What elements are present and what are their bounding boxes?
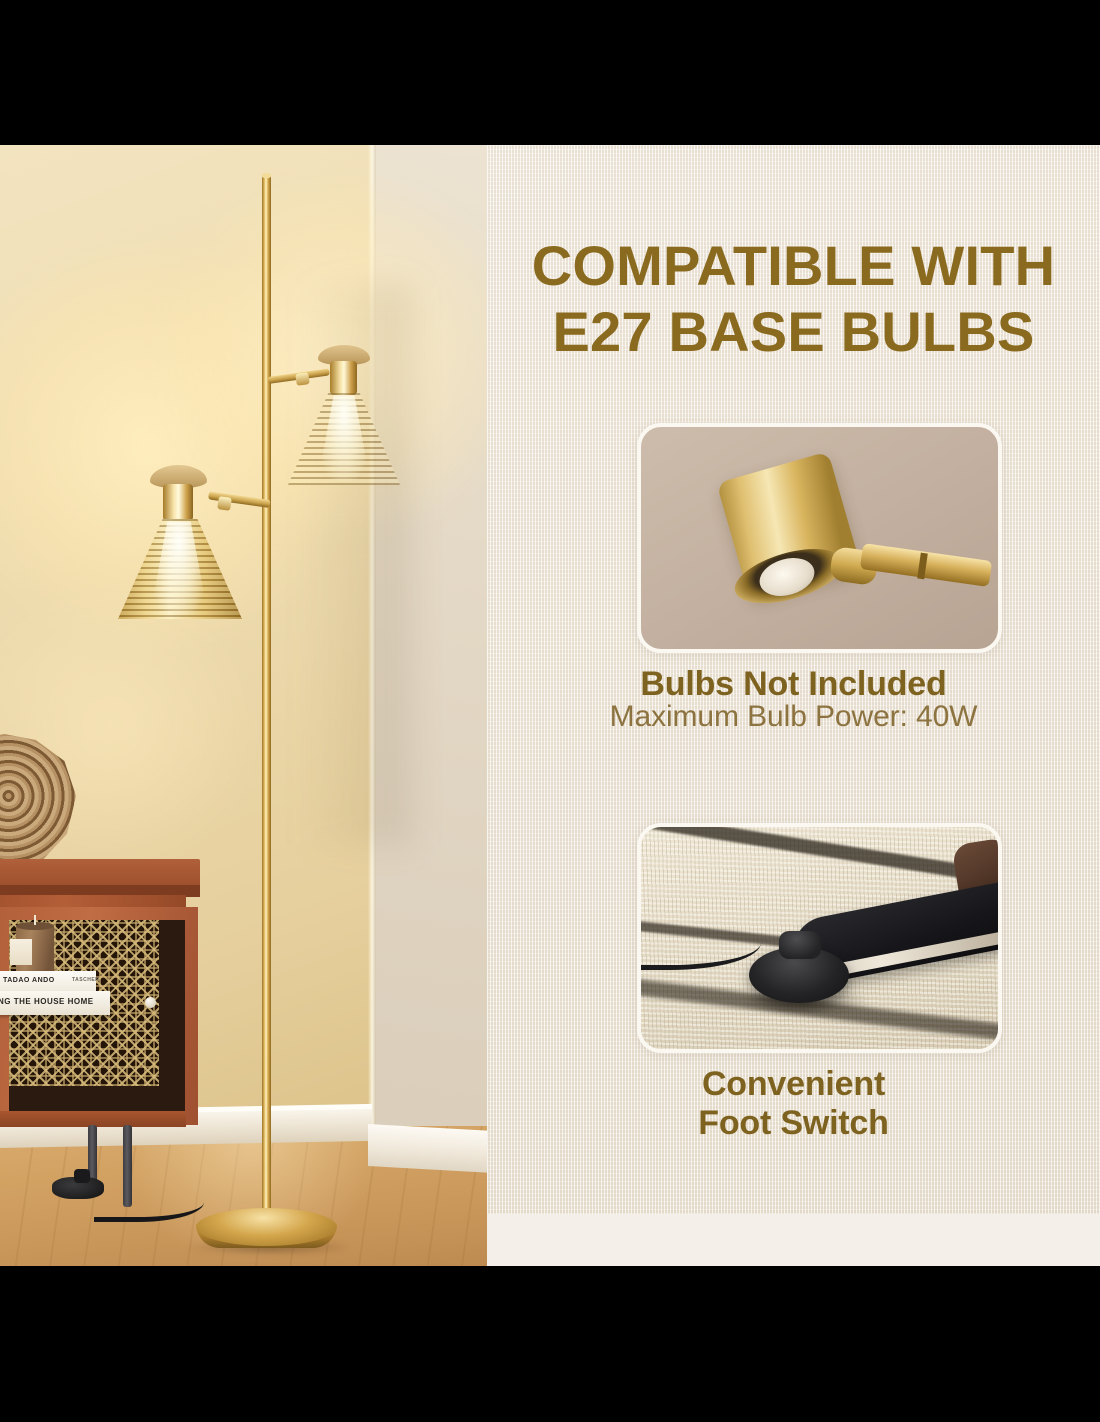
book-top-publisher: TASCHEN [72,977,99,983]
lamp-socket-upper [330,361,357,395]
lamp-pole [262,175,271,1245]
feature-2-title: Convenient Foot Switch [487,1065,1100,1144]
heading-line-2: E27 BASE BULBS [487,303,1100,361]
book-top-title: TADAO ANDO [3,977,55,984]
feature-2-title-line-1: Convenient [487,1065,1100,1104]
baseboard-right [368,1124,487,1173]
lamp-base [196,1208,337,1246]
power-plug-nub [74,1169,90,1183]
lamp-arm-lower-joint [217,496,232,511]
cabinet-knob [145,997,156,1008]
screenshot-canvas: TADAO ANDO TASCHEN NG THE HOUSE HOME [0,0,1100,1422]
foot-switch-button [779,931,821,959]
feature-1-subtitle: Maximum Bulb Power: 40W [487,700,1100,734]
candle-label [10,939,32,965]
foot-switch-on-rug-photo [637,823,1002,1053]
lamp-arm-upper-joint [295,372,310,386]
panel-heading: COMPATIBLE WITH E27 BASE BULBS [487,237,1100,360]
info-panel: COMPATIBLE WITH E27 BASE BULBS Bulbs Not… [487,145,1100,1266]
feature-2-title-line-2: Foot Switch [487,1104,1100,1143]
heading-line-1: COMPATIBLE WITH [487,237,1100,295]
candle-wick [34,915,36,925]
feature-1-title: Bulbs Not Included [487,665,1100,704]
lifestyle-photo: TADAO ANDO TASCHEN NG THE HOUSE HOME [0,145,487,1266]
panel-bottom-band [487,1214,1100,1266]
content-band: TADAO ANDO TASCHEN NG THE HOUSE HOME [0,145,1100,1266]
lamp-socket-lower [163,484,193,521]
lamp-pole-cap [262,173,271,178]
lamp-head-closeup-photo [637,423,1002,653]
book-bottom-title: NG THE HOUSE HOME [0,997,94,1006]
